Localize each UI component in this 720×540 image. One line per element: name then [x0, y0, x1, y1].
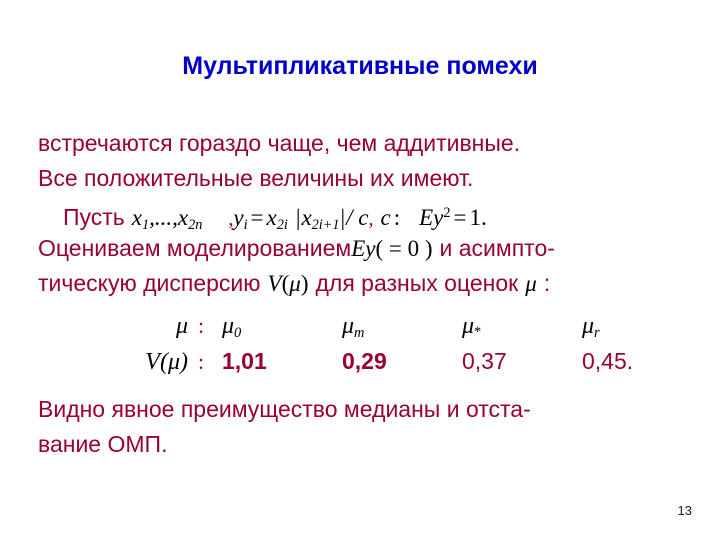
value-mur: 0,45.	[574, 348, 694, 375]
page-title: Мультипликативные помехи	[0, 52, 720, 81]
body-line-4-lead: Оцениваем моделированием	[38, 235, 351, 261]
formula-mu-symbol: μ	[525, 271, 537, 296]
body-text-block: встречаются гораздо чаще, чем аддитивные…	[38, 126, 698, 301]
page-number: 13	[678, 503, 692, 518]
formula-variance-of-mu: V(μ)	[268, 271, 309, 296]
body-line-2: Все положительные величины их имеют.	[38, 161, 698, 196]
body-line-1: встречаются гораздо чаще, чем аддитивные…	[38, 126, 698, 161]
body-line-4-tail: и асимпто-	[440, 235, 555, 261]
row-colon: :	[188, 313, 214, 339]
estimates-table: μ : μ0 μm μ* μr V(μ) : 1,01 0,29 0,37	[38, 312, 698, 384]
conclusion-line-1: Видно явное преимущество медианы и отста…	[38, 392, 698, 427]
column-header-mur: μr	[574, 312, 694, 342]
row-colon: :	[188, 349, 214, 375]
slide: Мультипликативные помехи встречаются гор…	[0, 0, 720, 540]
column-header-mum: μm	[334, 312, 454, 342]
formula-ey-zero: Ey( = 0 )	[351, 236, 432, 261]
column-header-mustar: μ*	[454, 312, 574, 341]
conclusion-text-block: Видно явное преимущество медианы и отста…	[38, 392, 698, 462]
formula-ey-squared: Ey2=1.	[419, 205, 487, 230]
body-line-5: тическую дисперсиюV(μ)для разных оценокμ…	[38, 266, 698, 301]
value-mum: 0,29	[334, 348, 454, 375]
body-line-5-lead: тическую дисперсию	[38, 270, 261, 296]
formula-lead-label: Пусть	[63, 204, 125, 230]
value-mustar: 0,37	[454, 348, 574, 375]
formula-c-constraint: c:	[380, 205, 403, 230]
body-line-4: Оцениваем моделированиемEy( = 0 )и асимп…	[38, 231, 698, 266]
conclusion-line-2: вание ОМП.	[38, 427, 698, 462]
row-label-mu: μ	[38, 312, 188, 340]
body-line-5-mid: для разных оценок	[315, 270, 518, 296]
formula-second-comma: ,	[368, 208, 373, 230]
table-row-headers: μ : μ0 μm μ* μr	[38, 312, 698, 348]
value-mu0: 1,01	[214, 348, 334, 375]
body-line-5-tail: :	[544, 270, 550, 296]
formula-y-definition: yi=x2i|x2i+1|/ c	[233, 205, 368, 230]
row-label-variance: V(μ)	[38, 348, 188, 376]
formula-x-sequence: x1,...,x2n	[132, 205, 203, 230]
formula-line: Пустьx1,...,x2n,yi=x2i|x2i+1|/ c,c:Ey2=1…	[38, 196, 698, 231]
table-row-values: V(μ) : 1,01 0,29 0,37 0,45.	[38, 348, 698, 384]
column-header-mu0: μ0	[214, 312, 334, 342]
